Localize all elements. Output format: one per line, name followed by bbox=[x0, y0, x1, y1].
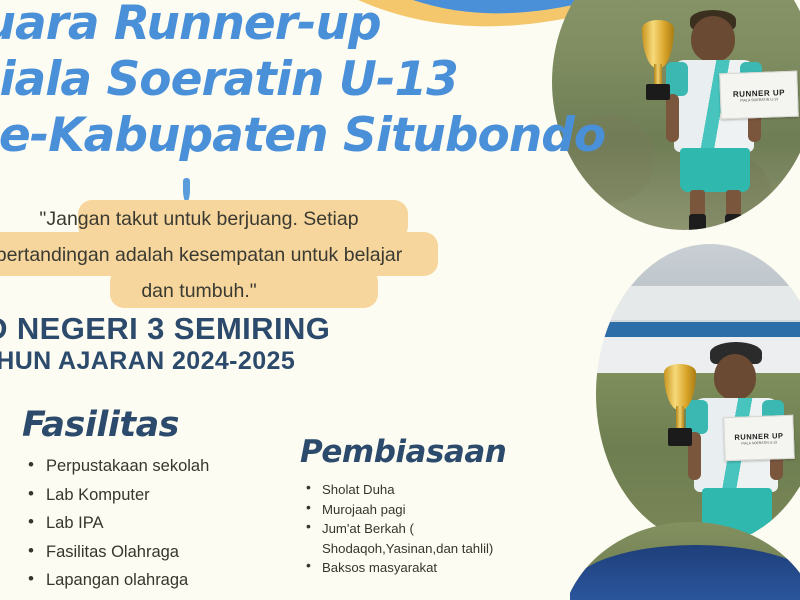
quote-pointer-tick bbox=[183, 178, 190, 202]
quote-text: "Jangan takut untuk berjuang. Setiap per… bbox=[0, 200, 438, 310]
page-title: Juara Runner-up Piala Soeratin U-13 Se-K… bbox=[0, 0, 546, 164]
photo1-head bbox=[691, 16, 735, 62]
list-item: Murojaah pagi bbox=[300, 500, 550, 520]
list-item: Fasilitas Olahraga bbox=[22, 538, 292, 567]
school-name: SD NEGERI 3 SEMIRING bbox=[0, 312, 524, 346]
list-item: Baksos masyarakat bbox=[300, 558, 550, 578]
quote-line-1: "Jangan takut untuk berjuang. Setiap bbox=[39, 201, 358, 237]
photo1-right-sock bbox=[725, 214, 742, 230]
photo2-trophy-cup bbox=[664, 364, 696, 410]
photo-trophy-building: RUNNER UP PIALA SOERATIN U-13 bbox=[596, 244, 800, 544]
photo2-trophy-stem bbox=[676, 406, 684, 430]
fasilitas-list: Perpustakaan sekolah Lab Komputer Lab IP… bbox=[22, 452, 292, 600]
photo1-student-figure bbox=[664, 12, 768, 230]
quote-line-3: dan tumbuh." bbox=[141, 273, 256, 309]
school-identity: SD NEGERI 3 SEMIRING TAHUN AJARAN 2024-2… bbox=[0, 312, 524, 376]
photo1-left-leg bbox=[690, 190, 705, 216]
photo2-cert-subtitle: PIALA SOERATIN U-13 bbox=[741, 440, 777, 445]
section-fasilitas: Fasilitas Perpustakaan sekolah Lab Kompu… bbox=[22, 404, 292, 600]
photo2-certificate: RUNNER UP PIALA SOERATIN U-13 bbox=[723, 415, 794, 461]
school-academic-year: TAHUN AJARAN 2024-2025 bbox=[0, 346, 524, 376]
fasilitas-heading: Fasilitas bbox=[22, 404, 292, 446]
photo1-trophy-base bbox=[646, 84, 670, 100]
list-item: Lapangan olahraga bbox=[22, 566, 292, 595]
photo2-trophy-base bbox=[668, 428, 692, 446]
list-item: Lab Komputer bbox=[22, 481, 292, 510]
photo2-building-blue-band bbox=[596, 322, 800, 337]
photo1-trophy-cup bbox=[642, 20, 674, 68]
pembiasaan-list: Sholat Duha Murojaah pagi Jum'at Berkah … bbox=[300, 480, 550, 578]
list-item: Jum'at Berkah ( bbox=[300, 519, 550, 539]
list-item: Lab Komputer bbox=[22, 595, 292, 600]
photo1-cert-subtitle: PIALA SOERATIN U-13 bbox=[740, 97, 778, 102]
title-line-1: Juara Runner-up bbox=[0, 0, 546, 52]
title-line-2: Piala Soeratin U-13 bbox=[0, 52, 546, 108]
title-line-3: Se-Kabupaten Situbondo bbox=[0, 108, 546, 164]
list-item: Perpustakaan sekolah bbox=[22, 452, 292, 481]
photo1-trophy-stem bbox=[654, 64, 662, 86]
list-item: Lab IPA bbox=[22, 509, 292, 538]
pembiasaan-heading: Pembiasaan bbox=[300, 432, 550, 472]
photo2-head bbox=[714, 354, 756, 400]
photo-sports-hall bbox=[560, 522, 800, 600]
section-pembiasaan: Pembiasaan Sholat Duha Murojaah pagi Jum… bbox=[300, 432, 550, 578]
quote-box: "Jangan takut untuk berjuang. Setiap per… bbox=[0, 200, 460, 310]
photo1-shorts bbox=[680, 148, 750, 192]
photo1-right-leg bbox=[726, 190, 741, 216]
photo1-certificate: RUNNER UP PIALA SOERATIN U-13 bbox=[719, 71, 799, 120]
quote-line-2: pertandingan adalah kesempatan untuk bel… bbox=[0, 237, 402, 273]
list-item-continuation: Shodaqoh,Yasinan,dan tahlil) bbox=[300, 539, 550, 559]
photo1-trophy bbox=[640, 20, 676, 102]
poster-canvas: RUNNER UP PIALA SOERATIN U-13 RUNNER UP … bbox=[0, 0, 800, 600]
photo2-trophy bbox=[662, 364, 698, 448]
photo1-left-sock bbox=[689, 214, 706, 230]
list-item: Sholat Duha bbox=[300, 480, 550, 500]
